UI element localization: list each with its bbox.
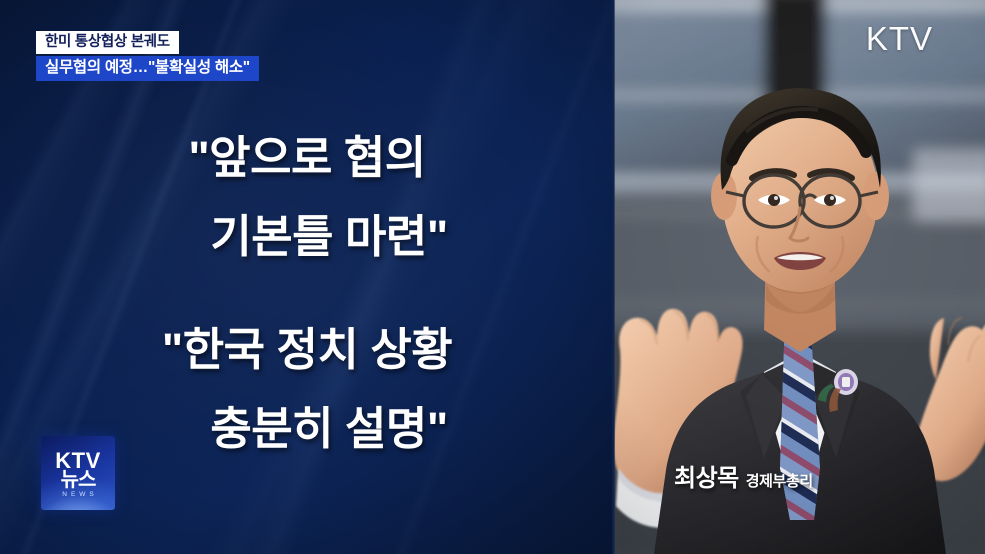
broadcast-frame: 한미 통상협상 본궤도 실무협의 예정…"불확실성 해소" "앞으로 협의 기본… [0,0,985,554]
speaker-title: 경제부총리 [746,473,813,490]
quote-block: "앞으로 협의 기본틀 마련" "한국 정치 상황 충분히 설명" [0,118,614,468]
quote-line: 기본틀 마련" [0,197,614,276]
quote-group-first: "앞으로 협의 기본틀 마련" [0,118,614,276]
quote-line: "앞으로 협의 [0,118,614,197]
logo-korean-text: 뉴스 [61,470,96,490]
headline-line-secondary: 실무협의 예정…"불확실성 해소" [36,56,259,81]
ktv-watermark: KTV [866,20,933,58]
speaker-name: 최상목 [674,465,739,492]
speaker-name-caption: 최상목경제부총리 [674,458,813,493]
headline-line-primary: 한미 통상협상 본궤도 [36,31,179,54]
ktv-news-logo: KTV 뉴스 NEWS [41,436,115,510]
logo-inner: KTV 뉴스 NEWS [41,436,115,510]
quote-line: "한국 정치 상황 [0,310,614,389]
logo-news-text: NEWS [58,490,98,499]
panel-divider [612,0,615,554]
headline-banner: 한미 통상협상 본궤도 실무협의 예정…"불확실성 해소" [36,31,259,81]
